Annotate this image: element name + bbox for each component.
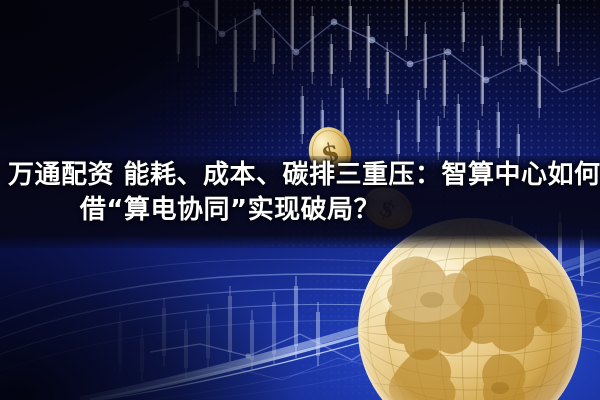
headline-line-1: 万通配资 能耗、成本、碳排三重压：智算中心如何: [8, 158, 590, 193]
cover-image: $ $ 万通配资 能耗、成本、碳排三重压：智算中心如何 借“算电协同”实现破局？: [0, 0, 600, 400]
headline: 万通配资 能耗、成本、碳排三重压：智算中心如何 借“算电协同”实现破局？: [0, 158, 600, 228]
headline-line-2: 借“算电协同”实现破局？: [8, 193, 590, 228]
